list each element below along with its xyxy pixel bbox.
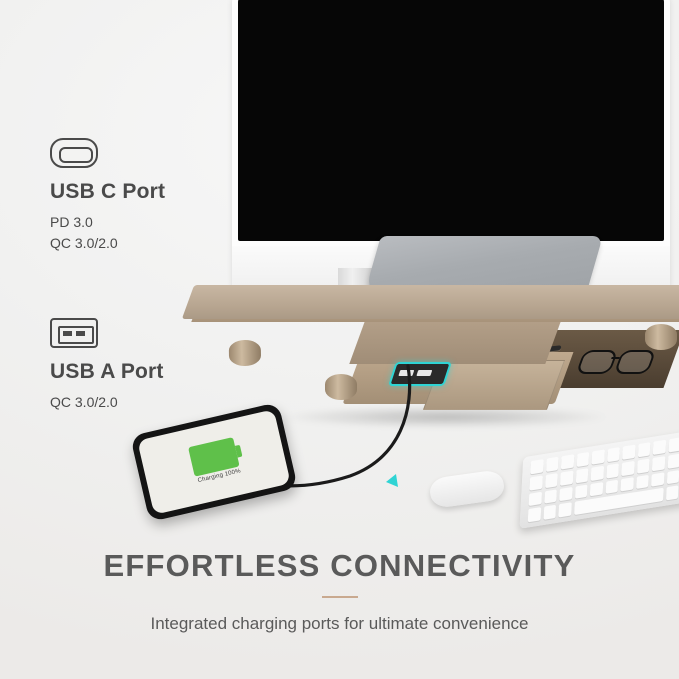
product-lifestyle-image: Charging 100%	[0, 0, 679, 679]
feature-usb-c: USB C Port PD 3.0 QC 3.0/2.0	[50, 138, 165, 254]
caption-divider	[322, 596, 358, 598]
usb-a-port-icon	[50, 318, 98, 348]
caption-subtitle: Integrated charging ports for ultimate c…	[0, 614, 679, 634]
monitor-screen	[238, 0, 664, 241]
feature-title: USB A Port	[50, 360, 164, 384]
riser-tabletop	[182, 285, 679, 319]
feature-spec: QC 3.0/2.0	[50, 392, 164, 413]
feature-spec: PD 3.0	[50, 212, 165, 233]
feature-usb-a: USB A Port QC 3.0/2.0	[50, 318, 164, 413]
feature-spec: QC 3.0/2.0	[50, 233, 165, 254]
caption-title: EFFORTLESS CONNECTIVITY	[0, 548, 679, 584]
usb-c-port-icon	[50, 138, 98, 168]
feature-title: USB C Port	[50, 180, 165, 204]
